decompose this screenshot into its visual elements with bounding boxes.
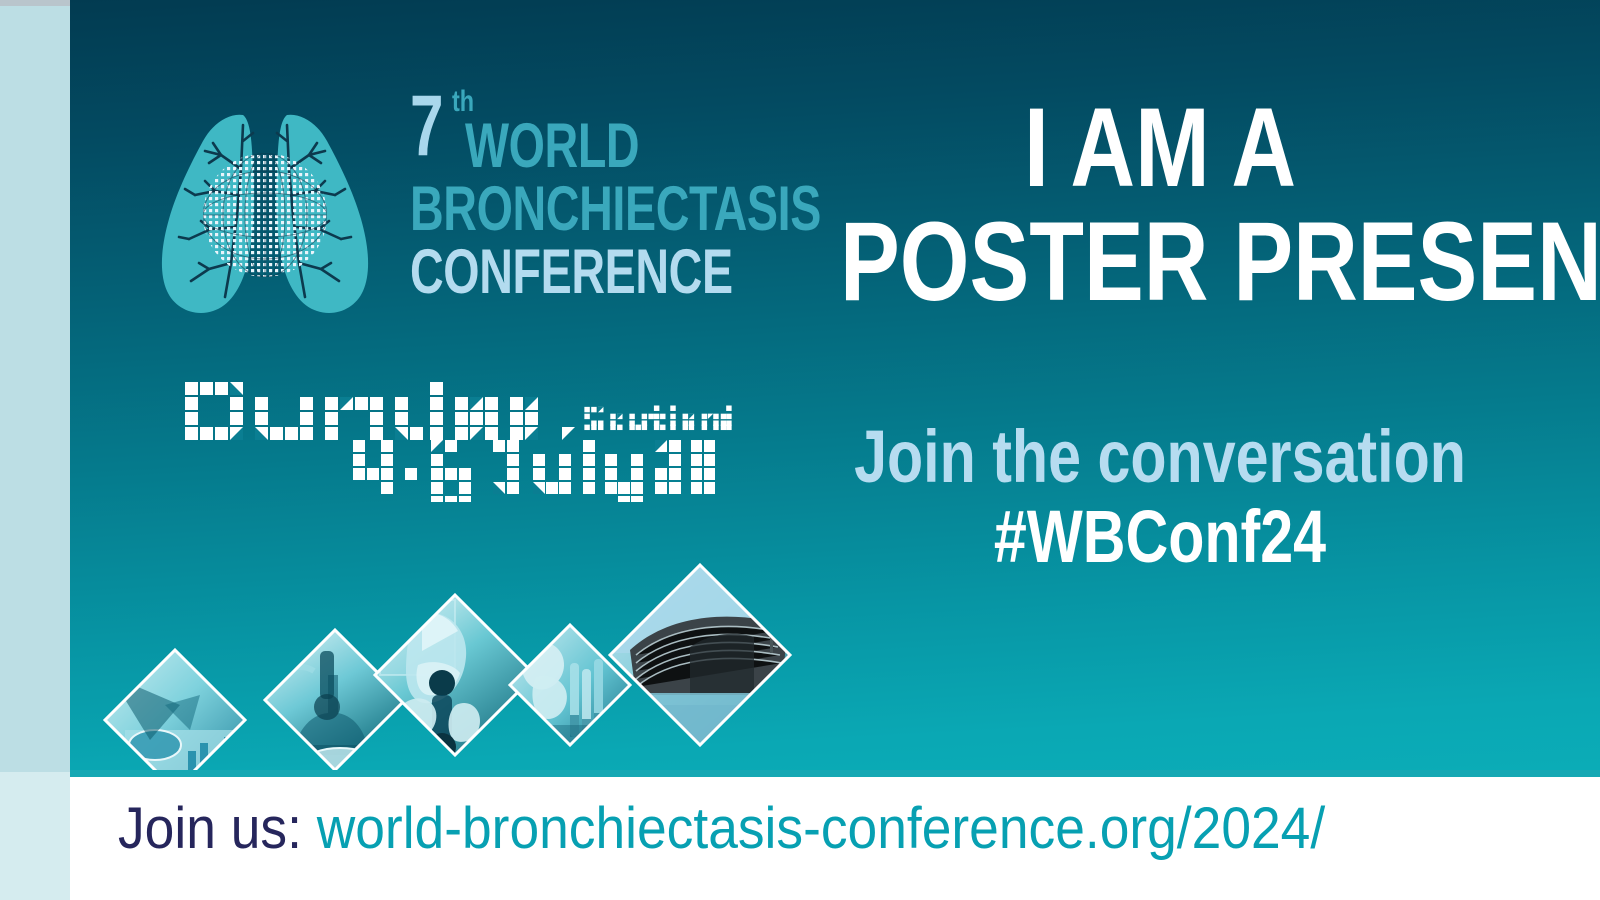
subhead-line-conversation: Join the conversation xyxy=(840,420,1480,494)
headline-line-1: I AM A xyxy=(840,95,1480,201)
conference-logo: 7 th WORLD BRONCHIECTASIS CONFERENCE xyxy=(125,95,765,345)
conference-banner: 7 th WORLD BRONCHIECTASIS CONFERENCE xyxy=(0,0,1600,900)
headline-block: I AM A POSTER PRESENTER xyxy=(760,95,1560,316)
subhead-block: Join the conversation #WBConf24 xyxy=(760,420,1560,574)
footer-join-line[interactable]: Join us: world-bronchiectasis-conference… xyxy=(118,800,1325,858)
diamond-lab-glassware-photo xyxy=(508,623,634,749)
subhead-hashtag: #WBConf24 xyxy=(840,500,1480,574)
logo-ordinal: 7 xyxy=(410,83,443,169)
dundee-city-text xyxy=(185,382,545,444)
diamond-va-dundee-photo xyxy=(608,563,793,753)
footer-bar: Join us: world-bronchiectasis-conference… xyxy=(70,770,1600,900)
left-strip-top-rule xyxy=(0,0,70,6)
diamond-photo-strip xyxy=(70,555,810,785)
logo-line-world: WORLD xyxy=(465,120,639,173)
location-comma xyxy=(561,382,577,444)
diamond-data-charts-photo xyxy=(100,645,255,785)
footer-url-link[interactable]: world-bronchiectasis-conference.org/2024… xyxy=(317,796,1325,861)
diamond-microscope-photo xyxy=(263,628,408,776)
footer-label: Join us: xyxy=(118,796,317,861)
dundee-dates-text xyxy=(353,440,728,502)
dundee-country-text xyxy=(583,382,733,444)
headline-line-2: POSTER PRESENTER xyxy=(840,209,1480,315)
left-accent-strip-bottom xyxy=(0,772,70,900)
footer-top-rule xyxy=(70,770,1600,777)
logo-wordmark: 7 th WORLD BRONCHIECTASIS CONFERENCE xyxy=(410,93,760,155)
logo-line-conference: CONFERENCE xyxy=(410,246,733,299)
left-accent-strip xyxy=(0,0,70,900)
location-logotype xyxy=(185,382,730,527)
lungs-globe-icon xyxy=(125,95,405,335)
